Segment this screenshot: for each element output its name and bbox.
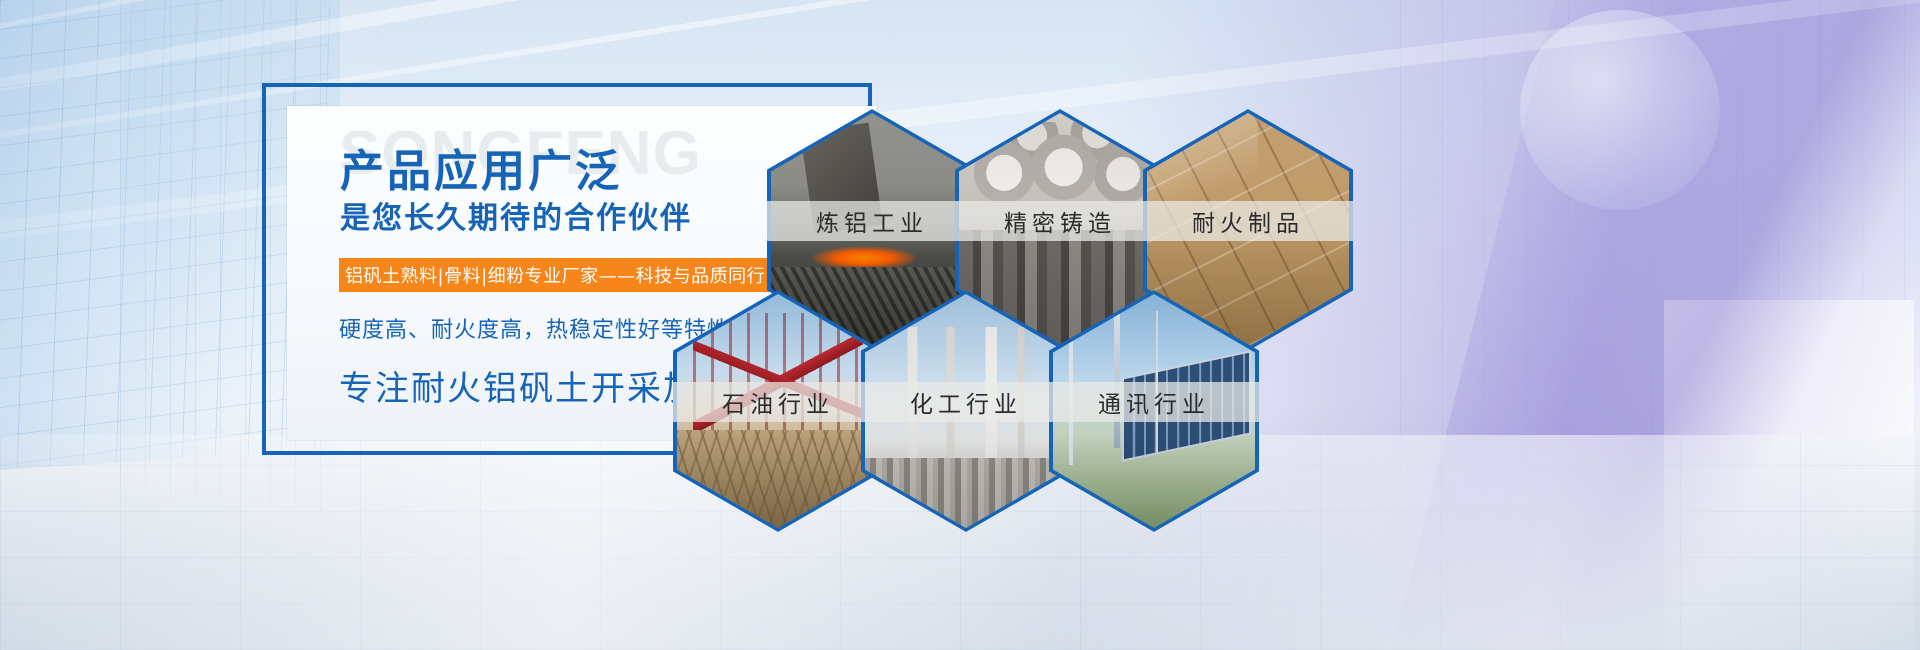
hex-label: 炼铝工业: [767, 201, 977, 241]
hex-label: 精密铸造: [955, 201, 1165, 241]
hex-label: 石油行业: [673, 382, 883, 422]
hex-label: 化工行业: [861, 382, 1071, 422]
application-hexagon-grid: 炼铝工业 精密铸造 耐火制品 石油行业: [0, 0, 1920, 650]
promotional-banner: SONGFENG 产品应用广泛 是您长久期待的合作伙伴 铝矾土熟料|骨料|细粉专…: [0, 0, 1920, 650]
hex-label: 通讯行业: [1049, 382, 1259, 422]
hex-label: 耐火制品: [1143, 201, 1353, 241]
